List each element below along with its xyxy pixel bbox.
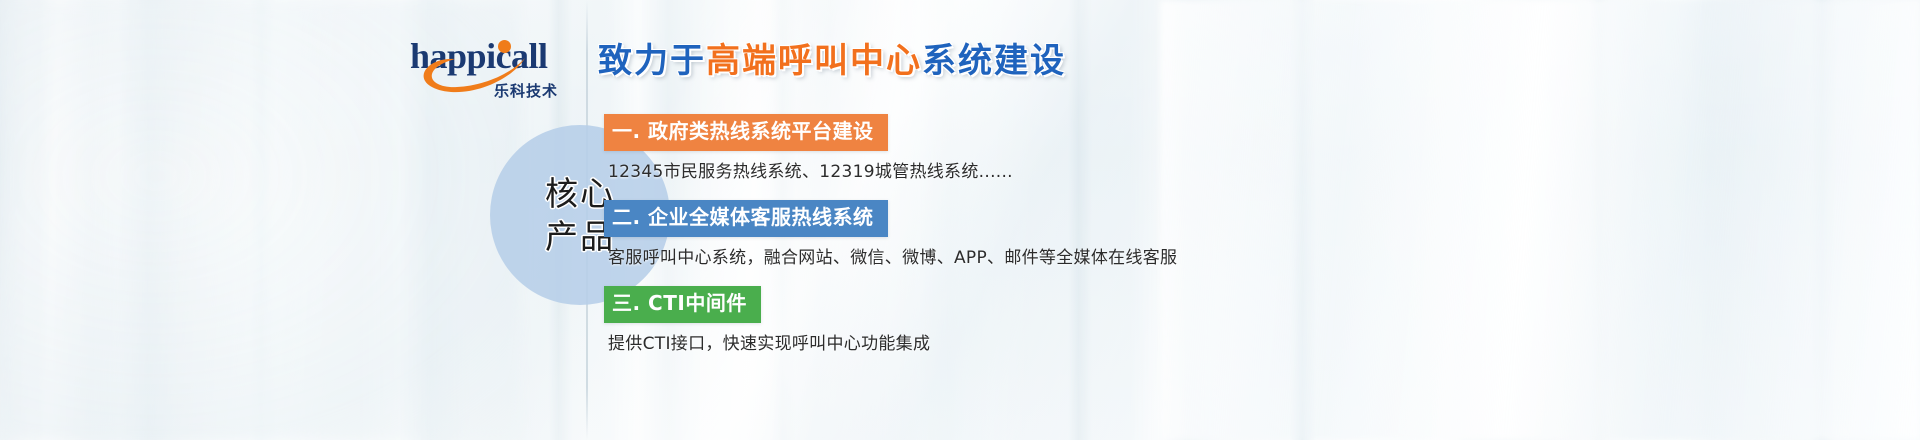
company-logo[interactable]: happicall 乐科技术 bbox=[410, 36, 585, 98]
product-list: 一. 政府类热线系统平台建设 12345市民服务热线系统、12319城管热线系统… bbox=[604, 114, 1504, 356]
promo-banner: happicall 乐科技术 致力于高端呼叫中心系统建设 核心 产品 一. 政府… bbox=[0, 0, 1920, 440]
headline-segment-2: 高端呼叫中心 bbox=[706, 41, 922, 81]
logo-wordmark: happicall bbox=[410, 36, 548, 76]
product-tag-government: 一. 政府类热线系统平台建设 bbox=[604, 114, 888, 151]
product-description-enterprise: 客服呼叫中心系统，融合网站、微信、微博、APP、邮件等全媒体在线客服 bbox=[604, 246, 1504, 270]
page-title: 致力于高端呼叫中心系统建设 bbox=[598, 40, 1066, 82]
banner-content: happicall 乐科技术 致力于高端呼叫中心系统建设 核心 产品 一. 政府… bbox=[0, 0, 1920, 440]
product-item[interactable]: 三. CTI中间件 提供CTI接口，快速实现呼叫中心功能集成 bbox=[604, 286, 1504, 356]
product-item[interactable]: 二. 企业全媒体客服热线系统 客服呼叫中心系统，融合网站、微信、微博、APP、邮… bbox=[604, 200, 1504, 270]
product-item[interactable]: 一. 政府类热线系统平台建设 12345市民服务热线系统、12319城管热线系统… bbox=[604, 114, 1504, 184]
headline-segment-3: 系统建设 bbox=[922, 41, 1066, 81]
headline-segment-1: 致力于 bbox=[598, 41, 706, 81]
logo-chinese-name: 乐科技术 bbox=[494, 80, 558, 101]
logo-dot-icon bbox=[498, 40, 511, 53]
product-description-cti: 提供CTI接口，快速实现呼叫中心功能集成 bbox=[604, 332, 1504, 356]
product-tag-enterprise: 二. 企业全媒体客服热线系统 bbox=[604, 200, 888, 237]
product-tag-cti: 三. CTI中间件 bbox=[604, 286, 761, 323]
product-description-government: 12345市民服务热线系统、12319城管热线系统...... bbox=[604, 160, 1504, 184]
